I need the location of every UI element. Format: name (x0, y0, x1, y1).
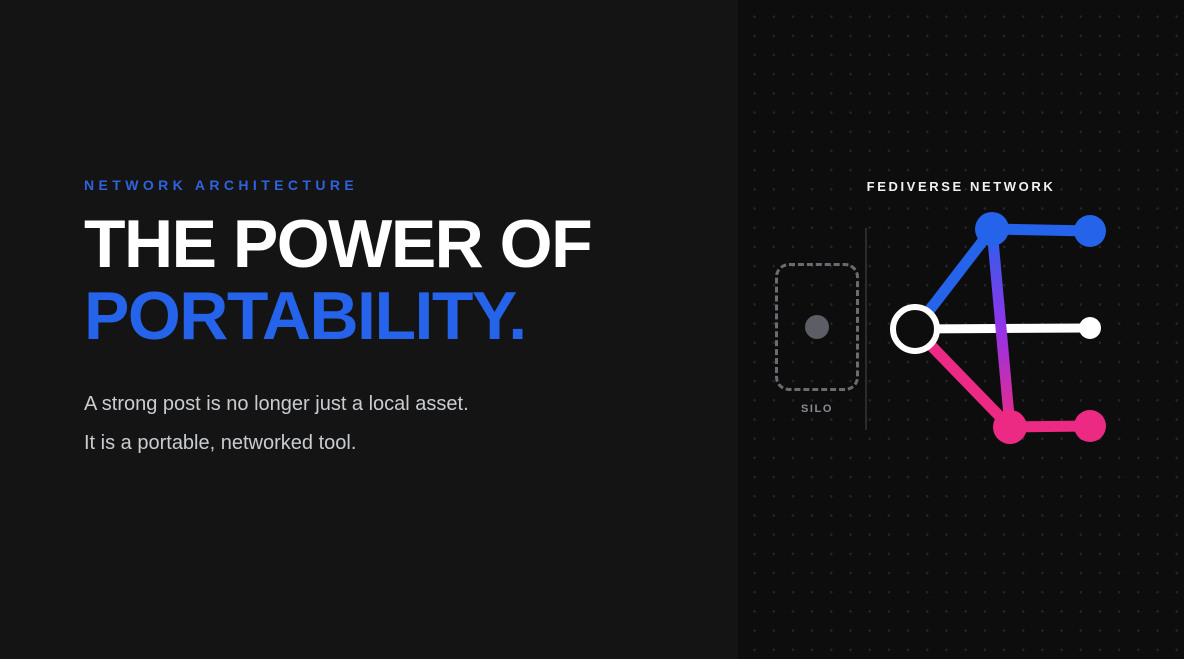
graph-node-pink-bottom[interactable] (993, 410, 1027, 444)
network-graph (738, 0, 1184, 659)
right-diagram-panel: FEDIVERSE NETWORK SILO (738, 0, 1184, 659)
graph-node-blue-top[interactable] (975, 212, 1009, 246)
left-content-panel: NETWORK ARCHITECTURE THE POWER OF PORTAB… (0, 0, 738, 659)
graph-node-white-right[interactable] (1079, 317, 1101, 339)
body-line-1: A strong post is no longer just a local … (84, 394, 704, 414)
slide-root: NETWORK ARCHITECTURE THE POWER OF PORTAB… (0, 0, 1184, 659)
eyebrow-label: NETWORK ARCHITECTURE (84, 178, 704, 192)
graph-node-blue-right[interactable] (1074, 215, 1106, 247)
graph-edges (915, 229, 1090, 427)
page-title: THE POWER OF PORTABILITY. (84, 212, 704, 350)
body-line-2: It is a portable, networked tool. (84, 433, 704, 453)
body-copy: A strong post is no longer just a local … (84, 394, 704, 453)
left-text-block: NETWORK ARCHITECTURE THE POWER OF PORTAB… (84, 178, 704, 453)
graph-node-pink-right[interactable] (1074, 410, 1106, 442)
headline-line-1: THE POWER OF (84, 212, 704, 277)
graph-node-hub[interactable] (893, 307, 937, 351)
headline-line-2: PORTABILITY. (84, 284, 704, 349)
